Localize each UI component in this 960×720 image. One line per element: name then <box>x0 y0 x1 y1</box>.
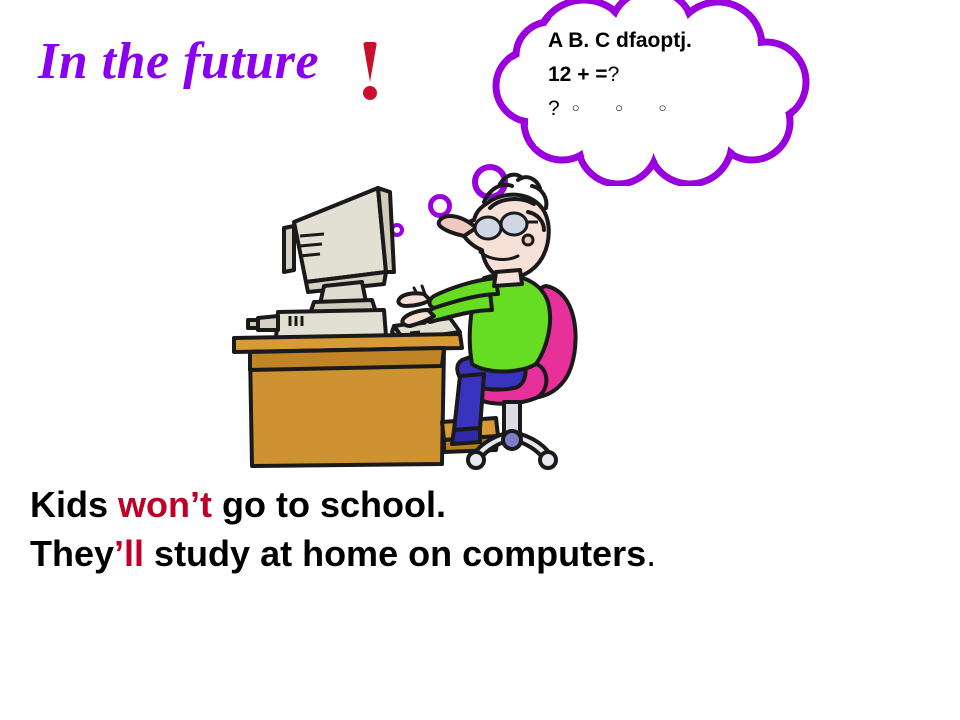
man-at-computer-desk-illustration <box>228 160 628 480</box>
body-line-2: They’ll study at home on computers. <box>30 529 930 578</box>
slide-title-block: In the future <box>38 36 387 104</box>
slide-canvas: In the future <box>0 0 960 720</box>
bubble-line-3-question: ? <box>548 97 560 120</box>
bubble-line-3: ?○ ○ ○ <box>548 92 788 128</box>
body-line-1-part-a: Kids <box>30 484 118 525</box>
desk <box>234 334 462 466</box>
thought-bubble-text: A B. C dfaoptj. 12 + =? ?○ ○ ○ <box>548 24 788 128</box>
page-title: In the future <box>38 36 319 88</box>
slide-body-text: Kids won’t go to school. They’ll study a… <box>30 480 930 578</box>
person-neck <box>494 270 522 286</box>
exclamation-mark-icon <box>353 38 387 104</box>
body-line-1-part-b: go to school. <box>212 484 446 525</box>
body-line-1: Kids won’t go to school. <box>30 480 930 529</box>
body-line-2-highlight: ’ll <box>114 533 144 574</box>
thought-bubble: A B. C dfaoptj. 12 + =? ?○ ○ ○ <box>466 0 814 186</box>
person-hands <box>398 293 434 326</box>
bubble-line-2-bold: 12 + = <box>548 63 608 86</box>
body-line-2-part-a: They <box>30 533 114 574</box>
body-line-2-period: . <box>646 533 656 574</box>
computer-monitor <box>284 188 394 314</box>
bubble-line-3-rings: ○ ○ ○ <box>572 100 683 115</box>
body-line-1-highlight: won’t <box>118 484 212 525</box>
bubble-line-2: 12 + =? <box>548 58 788 92</box>
body-line-2-part-b: study at home on computers <box>144 533 646 574</box>
bubble-line-2-question: ? <box>608 63 620 86</box>
exclamation-stem <box>363 42 377 82</box>
exclamation-dot <box>363 86 377 100</box>
bubble-line-1: A B. C dfaoptj. <box>548 24 788 58</box>
